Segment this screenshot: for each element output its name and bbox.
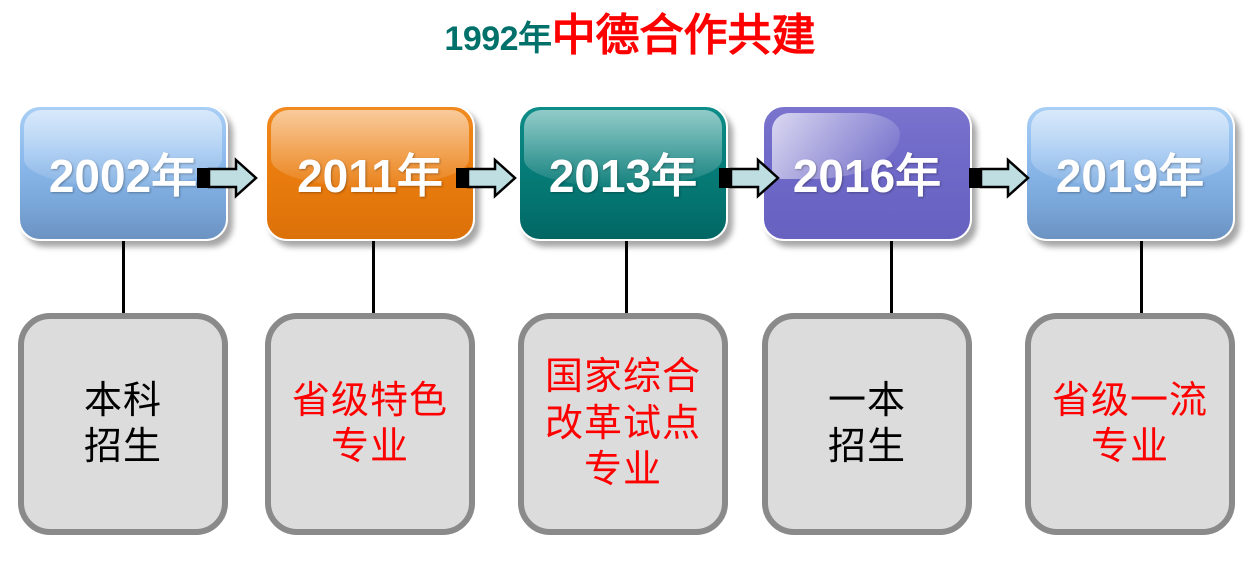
right-arrow-icon	[718, 156, 780, 200]
detail-box-text: 省级一流 专业	[1052, 378, 1208, 471]
detail-box-2016[interactable]: 一本 招生	[762, 313, 972, 535]
detail-box-2002[interactable]: 本科 招生	[18, 313, 228, 535]
milestone-box-2013[interactable]: 2013年	[518, 105, 728, 241]
milestone-box-2016[interactable]: 2016年	[762, 105, 972, 241]
connector-stem	[1140, 241, 1143, 313]
detail-box-2013[interactable]: 国家综合 改革试点 专业	[518, 313, 728, 535]
milestone-box-2019[interactable]: 2019年	[1025, 105, 1235, 241]
milestone-year-label: 2013年	[520, 107, 726, 239]
milestone-year-label: 2016年	[764, 107, 970, 239]
connector-stem	[890, 241, 893, 313]
detail-box-text: 国家综合 改革试点 专业	[545, 354, 701, 493]
right-arrow-icon	[968, 156, 1030, 200]
detail-box-text: 本科 招生	[84, 378, 162, 471]
connector-stem	[372, 241, 375, 313]
detail-box-text: 一本 招生	[828, 378, 906, 471]
right-arrow-icon	[455, 156, 517, 200]
right-arrow-icon	[196, 156, 258, 200]
milestone-year-label: 2011年	[267, 107, 473, 239]
detail-box-text: 省级特色 专业	[292, 378, 448, 471]
milestone-year-label: 2019年	[1027, 107, 1233, 239]
detail-box-2011[interactable]: 省级特色 专业	[265, 313, 475, 535]
connector-stem	[625, 241, 628, 313]
milestone-box-2011[interactable]: 2011年	[265, 105, 475, 241]
title-year: 1992年	[444, 20, 551, 58]
connector-stem	[122, 241, 125, 313]
detail-box-2019[interactable]: 省级一流 专业	[1025, 313, 1235, 535]
page-title: 1992年中德合作共建	[0, 14, 1260, 58]
title-headline: 中德合作共建	[552, 11, 816, 60]
